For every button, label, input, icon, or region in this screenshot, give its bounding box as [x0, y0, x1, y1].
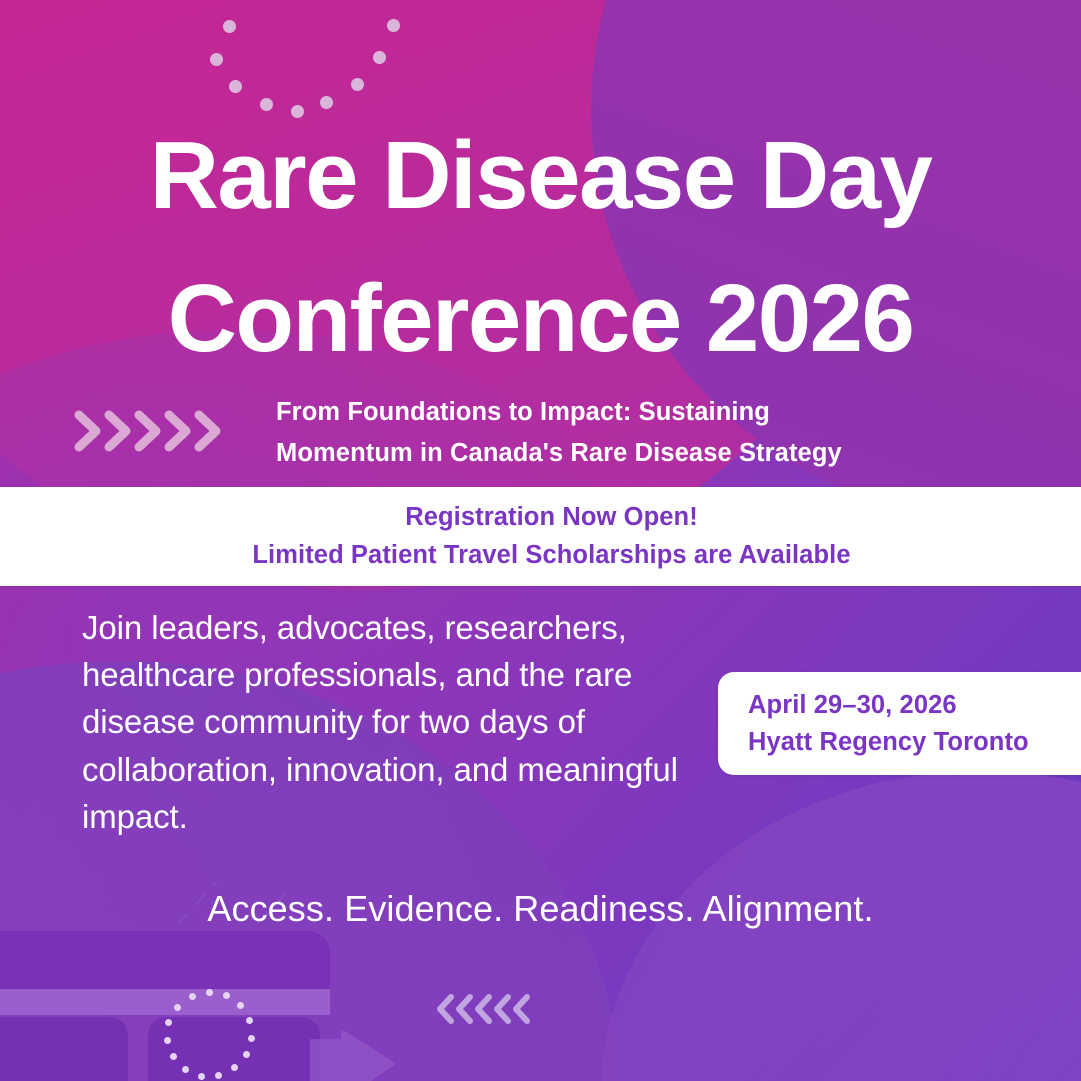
date-venue-card: April 29–30, 2026 Hyatt Regency Toronto	[718, 672, 1081, 775]
body-copy: Join leaders, advocates, researchers, he…	[82, 604, 722, 840]
registration-subline: Limited Patient Travel Scholarships are …	[230, 537, 850, 574]
poster-content: Rare Disease Day Conference 2026 From Fo…	[0, 0, 1081, 1081]
page-title-line-2: Conference 2026	[0, 271, 1081, 367]
registration-headline: Registration Now Open!	[383, 499, 698, 536]
poster-canvas: Rare Disease Day Conference 2026 From Fo…	[0, 0, 1081, 1081]
tagline: Access. Evidence. Readiness. Alignment.	[0, 888, 1081, 930]
event-dates: April 29–30, 2026	[748, 687, 1081, 723]
registration-banner[interactable]: Registration Now Open! Limited Patient T…	[0, 487, 1081, 586]
event-venue: Hyatt Regency Toronto	[748, 724, 1081, 760]
subtitle-block: From Foundations to Impact: Sustaining M…	[276, 392, 976, 475]
subtitle-line-2: Momentum in Canada's Rare Disease Strate…	[276, 433, 976, 474]
subtitle-line-1: From Foundations to Impact: Sustaining	[276, 392, 976, 433]
page-title-line-1: Rare Disease Day	[0, 128, 1081, 224]
